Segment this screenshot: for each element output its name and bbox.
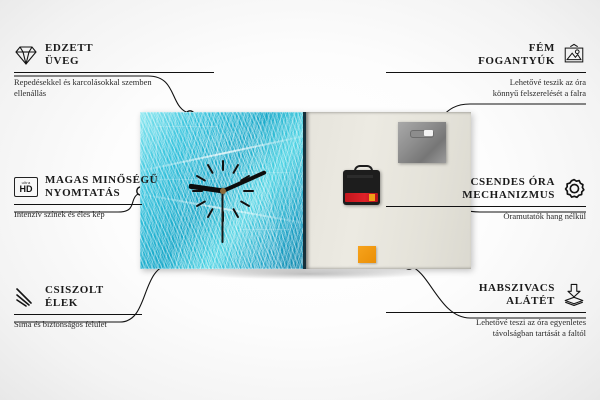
callout-title-line2: FOGANTYÚK	[478, 55, 555, 67]
callout-title-line1: HABSZIVACS	[479, 282, 555, 294]
callout-divider	[386, 312, 586, 313]
callout-title-line2: ÜVEG	[45, 55, 79, 67]
callout-desc-line1: Lehetővé teszik az óra	[510, 77, 586, 87]
callout-description: Óramutatók hang nélkül	[386, 211, 586, 222]
foam-pad-press-icon	[562, 283, 586, 307]
callout-title-line2: NYOMTATÁS	[45, 187, 120, 199]
callout-title-line1: FÉM	[529, 42, 555, 54]
callout-title-line1: EDZETT	[45, 42, 93, 54]
callout-magas-minosegu-nyomtatas[interactable]: ultra HD MAGAS MINŐSÉGŰ NYOMTATÁS Intenz…	[14, 174, 214, 220]
callout-divider	[14, 204, 142, 205]
callout-csiszolt-elek[interactable]: CSISZOLT ÉLEK Sima és biztonságos felüle…	[14, 284, 214, 330]
hanger-loop-icon	[354, 165, 373, 175]
clock-mechanism	[343, 170, 380, 205]
callout-divider	[386, 72, 586, 73]
callout-fem-fogantyuk[interactable]: FÉM FOGANTYÚK Lehetővé teszik az óra kön…	[386, 42, 586, 99]
infographic-canvas: EDZETT ÜVEG Repedésekkel és karcolásokka…	[0, 0, 600, 400]
callout-title-line1: MAGAS MINŐSÉGŰ	[45, 174, 158, 186]
callout-description: Repedésekkel és karcolásokkal szemben el…	[14, 77, 154, 99]
callout-habszivacs-alatet[interactable]: HABSZIVACS ALÁTÉT Lehetővé teszi az óra …	[386, 282, 586, 339]
ultra-hd-badge-icon: ultra HD	[14, 175, 38, 199]
callout-divider	[14, 314, 142, 315]
callout-title-line1: CSENDES ÓRA	[470, 176, 555, 188]
gear-icon	[562, 177, 586, 201]
callout-csendes-ora-mechanizmus[interactable]: CSENDES ÓRA MECHANIZMUS Óramutatók hang …	[386, 176, 586, 222]
clock-center-pin	[220, 188, 226, 194]
diamond-icon	[14, 43, 38, 67]
callout-title-line2: MECHANIZMUS	[462, 189, 555, 201]
battery-compartment	[345, 193, 378, 202]
picture-hanger-icon	[562, 43, 586, 67]
callout-title-line2: ALÁTÉT	[506, 295, 555, 307]
callout-description: Lehetővé teszik az óra könnyű felszerelé…	[386, 77, 586, 99]
callout-description: Intenzív színek és éles kép	[14, 209, 214, 220]
mechanism-slot	[347, 175, 373, 178]
callout-divider	[386, 206, 586, 207]
foam-pad	[358, 246, 376, 263]
callout-desc-line2: távolságban tartását a faltól	[493, 328, 586, 338]
callout-desc-line2: könnyű felszerelését a falra	[493, 88, 586, 98]
callout-title-line1: CSISZOLT	[45, 284, 104, 296]
callout-description: Lehetővé teszi az óra egyenletes távolsá…	[386, 317, 586, 339]
callout-desc-line1: Lehetővé teszi az óra egyenletes	[476, 317, 586, 327]
callout-divider	[14, 72, 214, 73]
callout-edzett-uveg[interactable]: EDZETT ÜVEG Repedésekkel és karcolásokka…	[14, 42, 214, 99]
callout-title-line2: ÉLEK	[45, 297, 78, 309]
polished-edges-icon	[14, 285, 38, 309]
metal-hanger	[398, 122, 446, 163]
callout-description: Sima és biztonságos felület	[14, 319, 214, 330]
badge-large-text: HD	[20, 185, 33, 194]
